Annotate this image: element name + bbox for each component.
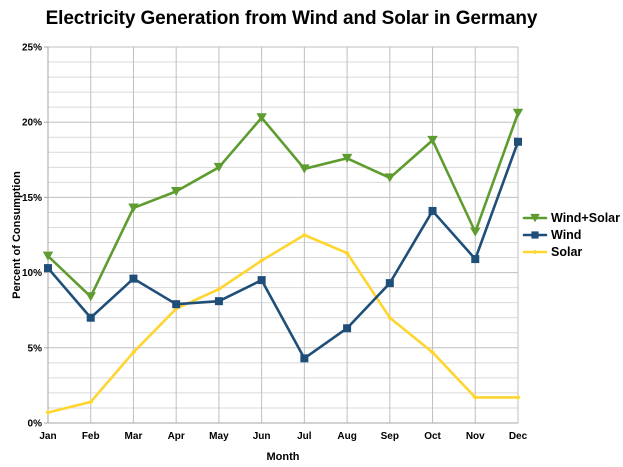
series-line [48,235,518,412]
x-axis-tick-label: Jan [39,431,56,442]
legend-label: Wind+Solar [551,211,620,225]
x-axis-tick-label: Jun [253,431,271,442]
data-point-marker [471,255,479,263]
y-axis-tick-labels: 0%5%10%15%20%25% [22,43,48,430]
x-axis-tick-label: Nov [466,431,485,442]
data-point-marker [86,292,96,301]
data-point-marker [515,395,520,400]
line-chart-plot: 0%5%10%15%20%25% JanFebMarAprMayJunJulAu… [0,0,623,467]
legend-item-wind[interactable]: Wind [524,228,581,242]
data-point-marker [258,276,266,284]
data-point-marker [343,324,351,332]
data-point-marker [128,204,138,213]
series-wind [44,138,522,363]
x-axis-title: Month [267,451,300,463]
y-axis-tick-label: 15% [22,193,42,204]
data-point-marker [44,264,52,272]
data-point-marker [385,173,395,182]
data-point-marker [172,300,180,308]
y-axis-tick-label: 25% [22,43,42,54]
data-point-marker [215,297,223,305]
y-axis-tick-label: 0% [28,419,43,430]
data-series-layer [43,109,523,415]
data-point-marker [514,138,522,146]
data-point-marker [513,109,523,118]
data-point-marker [386,279,394,287]
data-point-marker [300,354,308,362]
chart-legend: Wind+SolarWindSolar [524,211,620,259]
y-axis-title: Percent of Consumption [11,171,23,299]
x-axis-tick-label: Mar [125,431,143,442]
y-axis-tick-label: 10% [22,268,42,279]
x-axis-tick-label: May [209,431,229,442]
legend-swatch-marker [531,231,538,238]
x-axis-tick-labels: JanFebMarAprMayJunJulAugSepOctNovDec [39,431,527,442]
series-solar [45,232,520,415]
data-point-marker [87,314,95,322]
legend-label: Wind [551,228,581,242]
x-axis-tick-label: Oct [424,431,441,442]
data-point-marker [45,410,50,415]
data-point-marker [129,275,137,283]
y-axis-tick-label: 20% [22,118,42,129]
x-axis-tick-label: Apr [168,431,185,442]
data-point-marker [470,228,480,237]
x-axis-tick-label: Jul [297,431,312,442]
legend-item-solar[interactable]: Solar [524,245,582,259]
data-point-marker [429,207,437,215]
x-axis-tick-label: Dec [509,431,528,442]
y-axis-tick-label: 5% [28,343,43,354]
series-line [48,113,518,296]
x-axis-tick-label: Feb [82,431,100,442]
legend-swatch-marker [533,250,538,255]
x-axis-tick-label: Sep [381,431,399,442]
legend-item-wind-plus-solar[interactable]: Wind+Solar [524,211,620,225]
x-axis-tick-label: Aug [337,431,356,442]
chart-container: Electricity Generation from Wind and Sol… [0,0,623,467]
legend-label: Solar [551,245,582,259]
